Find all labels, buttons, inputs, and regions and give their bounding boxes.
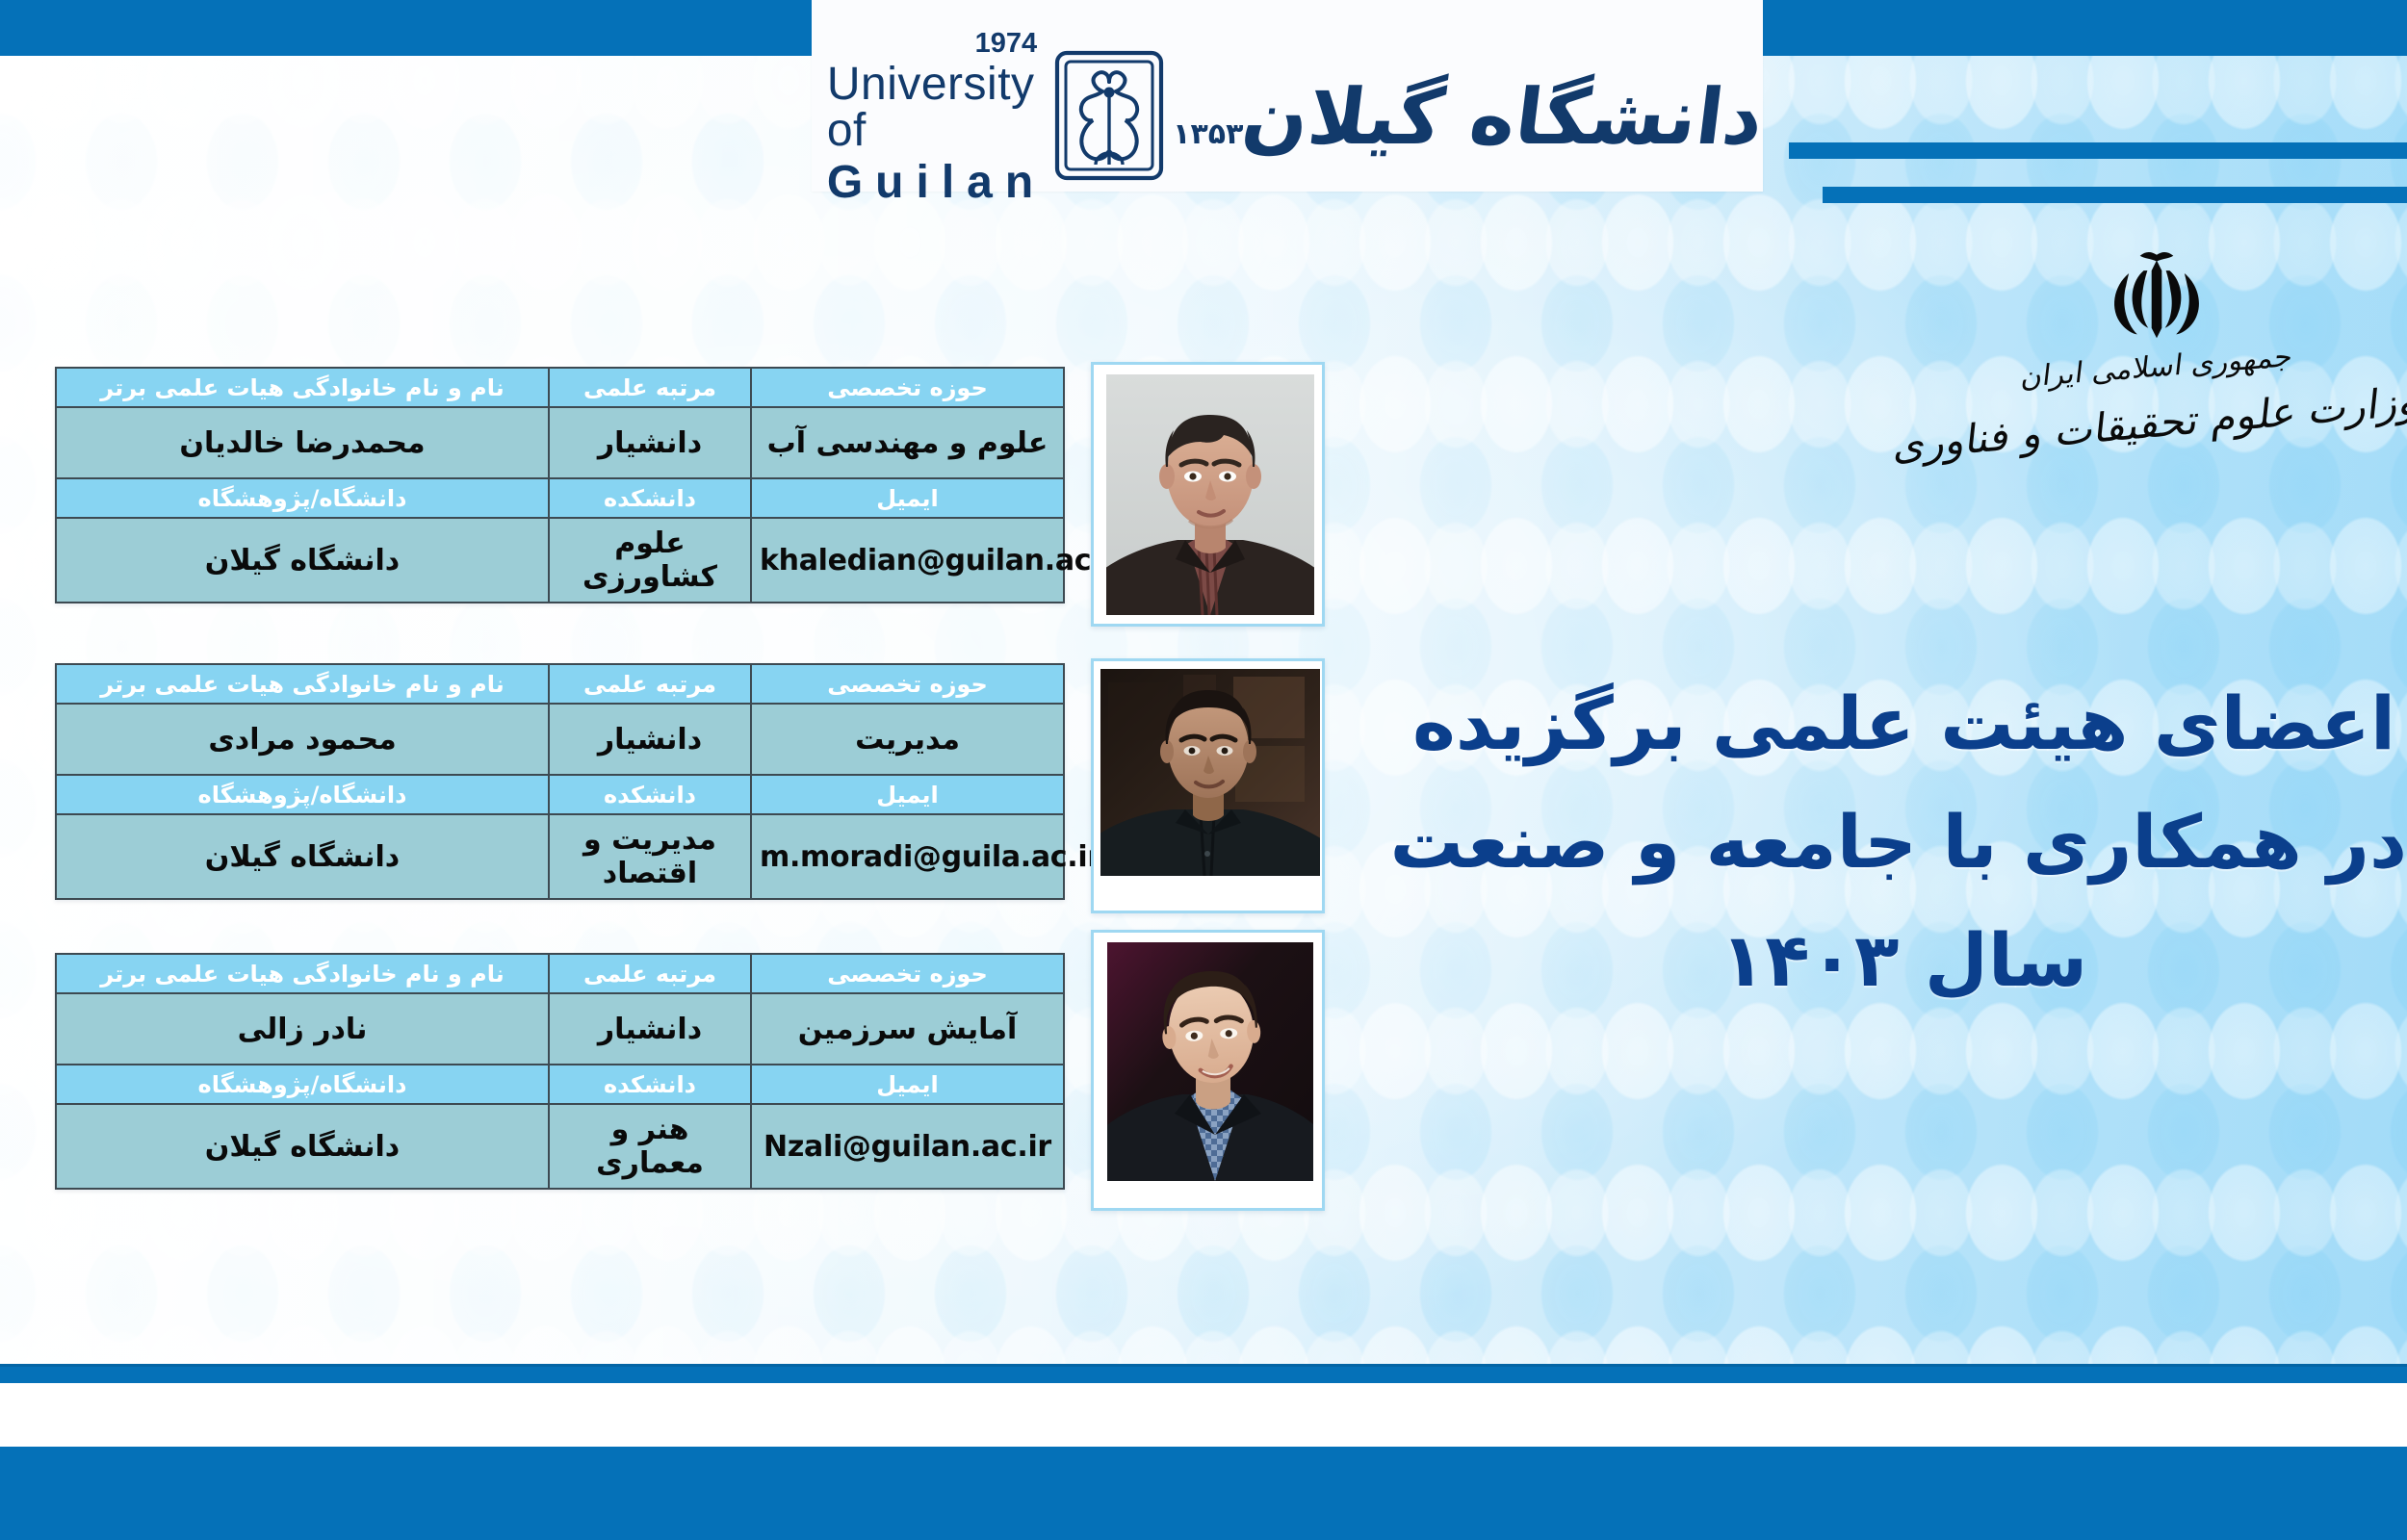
guilan-crest-icon — [1053, 49, 1165, 187]
table-row: ایمیل دانشکده دانشگاه/پژوهشگاه — [56, 478, 1064, 518]
ministry-country-label: جمهوری اسلامی ایران — [2019, 340, 2294, 395]
column-header-faculty: دانشکده — [549, 1065, 751, 1104]
table-row: Nzali@guilan.ac.ir هنر و معماری دانشگاه … — [56, 1104, 1064, 1189]
cell-institution: دانشگاه گیلان — [56, 814, 549, 899]
cell-rank: دانشیار — [549, 704, 751, 775]
bottom-thin-blue-bar — [0, 1364, 2407, 1383]
faculty-member-table: حوزه تخصصی مرتبه علمی نام و نام خانوادگی… — [55, 367, 1065, 603]
cell-name: محمدرضا خالدیان — [56, 407, 549, 478]
table-row: ایمیل دانشکده دانشگاه/پژوهشگاه — [56, 1065, 1064, 1104]
faculty-member-table: حوزه تخصصی مرتبه علمی نام و نام خانوادگی… — [55, 953, 1065, 1190]
university-name-fa: دانشگاه گیلان — [1238, 77, 1768, 158]
table-row: مدیریت دانشیار محمود مرادی — [56, 704, 1064, 775]
cell-institution: دانشگاه گیلان — [56, 518, 549, 603]
cell-field: آمایش سرزمین — [751, 993, 1064, 1065]
cell-faculty: مدیریت و اقتصاد — [549, 814, 751, 899]
column-header-email: ایمیل — [751, 1065, 1064, 1104]
photo-frame — [1091, 658, 1325, 913]
decor-stripe-2 — [1823, 187, 2407, 203]
table-row: ایمیل دانشکده دانشگاه/پژوهشگاه — [56, 775, 1064, 814]
column-header-rank: مرتبه علمی — [549, 664, 751, 704]
cell-faculty: علوم کشاورزی — [549, 518, 751, 603]
ministry-name-label: وزارت علوم تحقیقات و فناوری — [1892, 377, 2407, 470]
table-row: حوزه تخصصی مرتبه علمی نام و نام خانوادگی… — [56, 368, 1064, 407]
ministry-emblem-block: جمهوری اسلامی ایران وزارت علوم تحقیقات و… — [1916, 248, 2397, 489]
photo-frame — [1091, 362, 1325, 627]
column-header-field: حوزه تخصصی — [751, 954, 1064, 993]
university-logo: 1974 University of Guilan ۱۳۵۳ دانشگاه گ… — [871, 50, 1719, 185]
table-row: آمایش سرزمین دانشیار نادر زالی — [56, 993, 1064, 1065]
poster-canvas: 1974 University of Guilan ۱۳۵۳ دانشگاه گ… — [0, 0, 2407, 1540]
cell-field: مدیریت — [751, 704, 1064, 775]
founded-year-jalali: ۱۳۵۳ — [1173, 117, 1243, 151]
cell-name: نادر زالی — [56, 993, 549, 1065]
page-title-line-2: در همکاری با جامعه و صنعت — [1401, 783, 2407, 901]
bottom-white-band — [0, 1383, 2407, 1447]
bottom-blue-bar — [0, 1447, 2407, 1540]
cell-field: علوم و مهندسی آب — [751, 407, 1064, 478]
column-header-faculty: دانشکده — [549, 478, 751, 518]
photo-nader-zali — [1107, 942, 1313, 1181]
cell-email: khaledian@guilan.ac.ir — [751, 518, 1064, 603]
cell-email: Nzali@guilan.ac.ir — [751, 1104, 1064, 1189]
column-header-field: حوزه تخصصی — [751, 664, 1064, 704]
top-blue-bar-right — [1767, 0, 2407, 56]
cell-email: m.moradi@guila.ac.ir — [751, 814, 1064, 899]
column-header-name: نام و نام خانوادگی هیات علمی برتر — [56, 664, 549, 704]
university-name-en-line2: Guilan — [827, 160, 1046, 206]
table-row: حوزه تخصصی مرتبه علمی نام و نام خانوادگی… — [56, 954, 1064, 993]
table-row: علوم و مهندسی آب دانشیار محمدرضا خالدیان — [56, 407, 1064, 478]
column-header-rank: مرتبه علمی — [549, 954, 751, 993]
page-title-line-3: سال ۱۴۰۳ — [1401, 901, 2407, 1019]
faculty-member-table: حوزه تخصصی مرتبه علمی نام و نام خانوادگی… — [55, 663, 1065, 900]
founded-year-gregorian: 1974 — [975, 30, 1038, 58]
cell-faculty: هنر و معماری — [549, 1104, 751, 1189]
photo-mohammadreza-khaledian — [1106, 374, 1314, 615]
university-name-en-line1: University of — [827, 62, 1046, 154]
column-header-name: نام و نام خانوادگی هیات علمی برتر — [56, 954, 549, 993]
photo-frame — [1091, 930, 1325, 1211]
university-logo-english: 1974 University of Guilan — [827, 30, 1046, 206]
page-title: اعضای هیئت علمی برگزیده در همکاری با جام… — [1401, 664, 2407, 1019]
page-title-line-1: اعضای هیئت علمی برگزیده — [1401, 664, 2407, 783]
table-row: khaledian@guilan.ac.ir علوم کشاورزی دانش… — [56, 518, 1064, 603]
column-header-email: ایمیل — [751, 775, 1064, 814]
photo-mahmoud-moradi — [1100, 669, 1320, 876]
column-header-email: ایمیل — [751, 478, 1064, 518]
column-header-institution: دانشگاه/پژوهشگاه — [56, 775, 549, 814]
cell-rank: دانشیار — [549, 407, 751, 478]
cell-rank: دانشیار — [549, 993, 751, 1065]
column-header-faculty: دانشکده — [549, 775, 751, 814]
iran-emblem-icon — [2100, 248, 2213, 345]
table-row: حوزه تخصصی مرتبه علمی نام و نام خانوادگی… — [56, 664, 1064, 704]
column-header-institution: دانشگاه/پژوهشگاه — [56, 478, 549, 518]
university-logo-farsi: ۱۳۵۳ دانشگاه گیلان — [1171, 77, 1763, 158]
decor-stripe-1 — [1789, 142, 2407, 159]
table-row: m.moradi@guila.ac.ir مدیریت و اقتصاد دان… — [56, 814, 1064, 899]
column-header-rank: مرتبه علمی — [549, 368, 751, 407]
column-header-institution: دانشگاه/پژوهشگاه — [56, 1065, 549, 1104]
column-header-field: حوزه تخصصی — [751, 368, 1064, 407]
column-header-name: نام و نام خانوادگی هیات علمی برتر — [56, 368, 549, 407]
cell-name: محمود مرادی — [56, 704, 549, 775]
cell-institution: دانشگاه گیلان — [56, 1104, 549, 1189]
